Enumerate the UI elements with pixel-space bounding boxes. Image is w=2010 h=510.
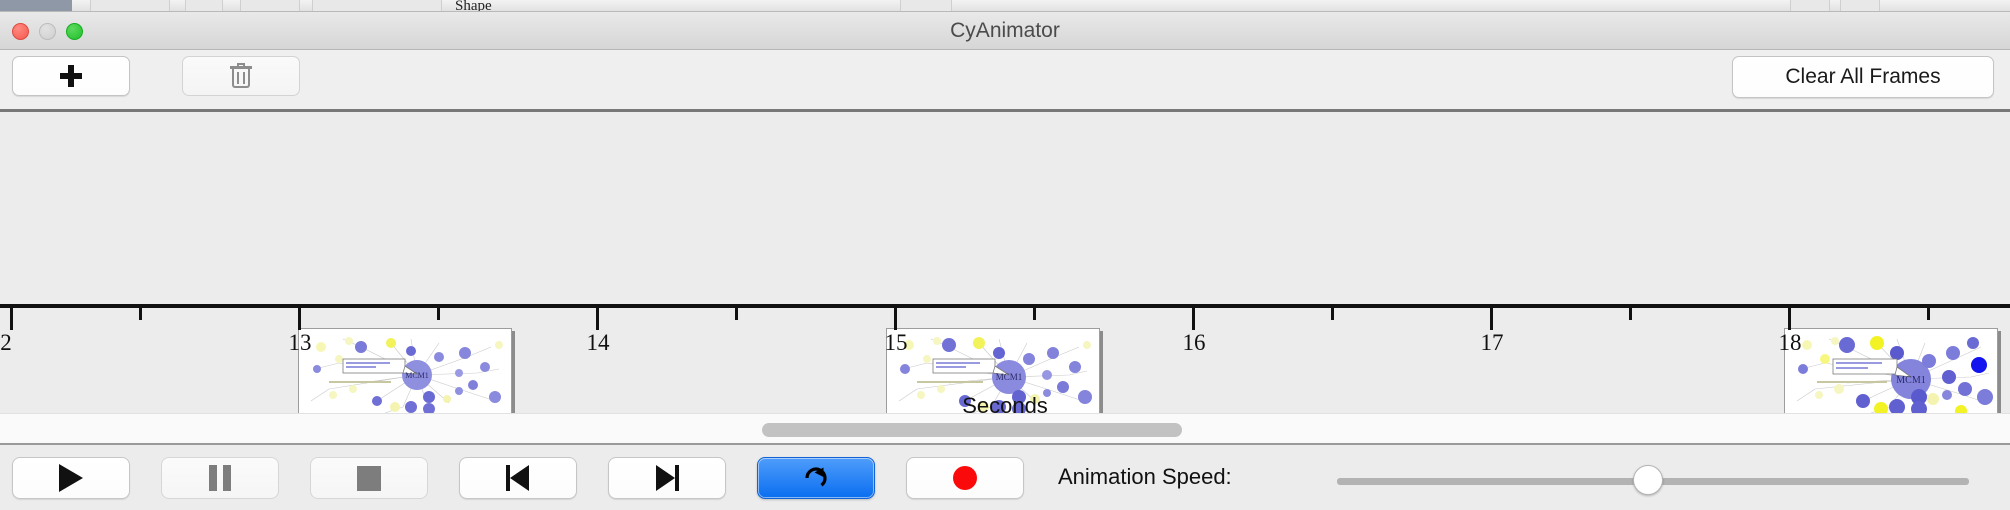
scrollbar-thumb[interactable] bbox=[762, 423, 1182, 437]
background-window-segment bbox=[90, 0, 170, 12]
loop-toggle-button[interactable] bbox=[757, 457, 875, 499]
center-node-label: MCM1 bbox=[1896, 375, 1925, 386]
pause-icon bbox=[209, 465, 231, 491]
background-window-segment bbox=[312, 0, 442, 12]
axis-tick-major bbox=[10, 308, 13, 330]
axis-tick-minor bbox=[1331, 308, 1334, 320]
stop-icon bbox=[357, 466, 381, 491]
axis-tick-minor bbox=[1927, 308, 1930, 320]
axis-tick-label: 16 bbox=[1183, 330, 1206, 356]
window-title: CyAnimator bbox=[0, 12, 2010, 50]
axis-tick-major bbox=[596, 308, 599, 330]
skip-to-end-button[interactable] bbox=[608, 457, 726, 499]
record-button[interactable] bbox=[906, 457, 1024, 499]
axis-tick-major bbox=[298, 308, 301, 330]
background-window-segment bbox=[0, 0, 72, 12]
add-frame-button[interactable] bbox=[12, 56, 130, 96]
axis-tick-major bbox=[1490, 308, 1493, 330]
timeline-horizontal-scrollbar[interactable] bbox=[0, 413, 2010, 445]
stop-button[interactable] bbox=[310, 457, 428, 499]
axis-tick-minor bbox=[139, 308, 142, 320]
loop-icon bbox=[802, 464, 830, 492]
window-title-bar: CyAnimator bbox=[0, 12, 2010, 50]
background-window-segment bbox=[185, 0, 223, 12]
play-button[interactable] bbox=[12, 457, 130, 499]
axis-tick-major bbox=[1192, 308, 1195, 330]
axis-tick-label: 15 bbox=[885, 330, 908, 356]
plus-icon bbox=[59, 64, 83, 88]
animation-speed-slider-thumb[interactable] bbox=[1633, 465, 1663, 495]
axis-tick-major bbox=[1788, 308, 1791, 330]
axis-baseline bbox=[0, 304, 2010, 308]
axis-tick-label: 18 bbox=[1779, 330, 1802, 356]
background-window-strip: Shape bbox=[0, 0, 2010, 12]
axis-tick-major bbox=[894, 308, 897, 330]
background-window-segment bbox=[900, 0, 952, 12]
trash-icon bbox=[230, 63, 252, 89]
axis-tick-label: 2 bbox=[0, 330, 12, 356]
background-window-segment bbox=[1840, 0, 1880, 12]
axis-title: Seconds bbox=[0, 393, 2010, 413]
background-window-ghost-label: Shape bbox=[455, 0, 492, 12]
skip-to-start-button[interactable] bbox=[459, 457, 577, 499]
axis-tick-minor bbox=[735, 308, 738, 320]
timeline-axis: 2 13 14 15 16 17 18 bbox=[0, 304, 2010, 348]
skip-to-start-icon bbox=[506, 465, 530, 491]
frame-toolbar bbox=[0, 50, 2010, 112]
play-icon bbox=[59, 464, 83, 492]
axis-tick-minor bbox=[437, 308, 440, 320]
skip-to-end-icon bbox=[655, 465, 679, 491]
axis-tick-minor bbox=[1033, 308, 1036, 320]
clear-all-frames-button[interactable]: Clear All Frames bbox=[1732, 56, 1994, 98]
background-window-segment bbox=[240, 0, 300, 12]
timeline-panel[interactable]: MCM1 bbox=[0, 115, 2010, 413]
axis-tick-minor bbox=[1629, 308, 1632, 320]
animation-speed-label: Animation Speed: bbox=[1058, 464, 1232, 490]
delete-frame-button[interactable] bbox=[182, 56, 300, 96]
background-window-segment bbox=[1790, 0, 1830, 12]
record-icon bbox=[953, 466, 977, 490]
pause-button[interactable] bbox=[161, 457, 279, 499]
axis-tick-label: 14 bbox=[587, 330, 610, 356]
axis-tick-label: 13 bbox=[289, 330, 312, 356]
axis-tick-label: 17 bbox=[1481, 330, 1504, 356]
center-node-label: MCM1 bbox=[996, 372, 1023, 382]
clear-all-frames-label: Clear All Frames bbox=[1785, 65, 1940, 89]
center-node-label: MCM1 bbox=[405, 371, 429, 380]
